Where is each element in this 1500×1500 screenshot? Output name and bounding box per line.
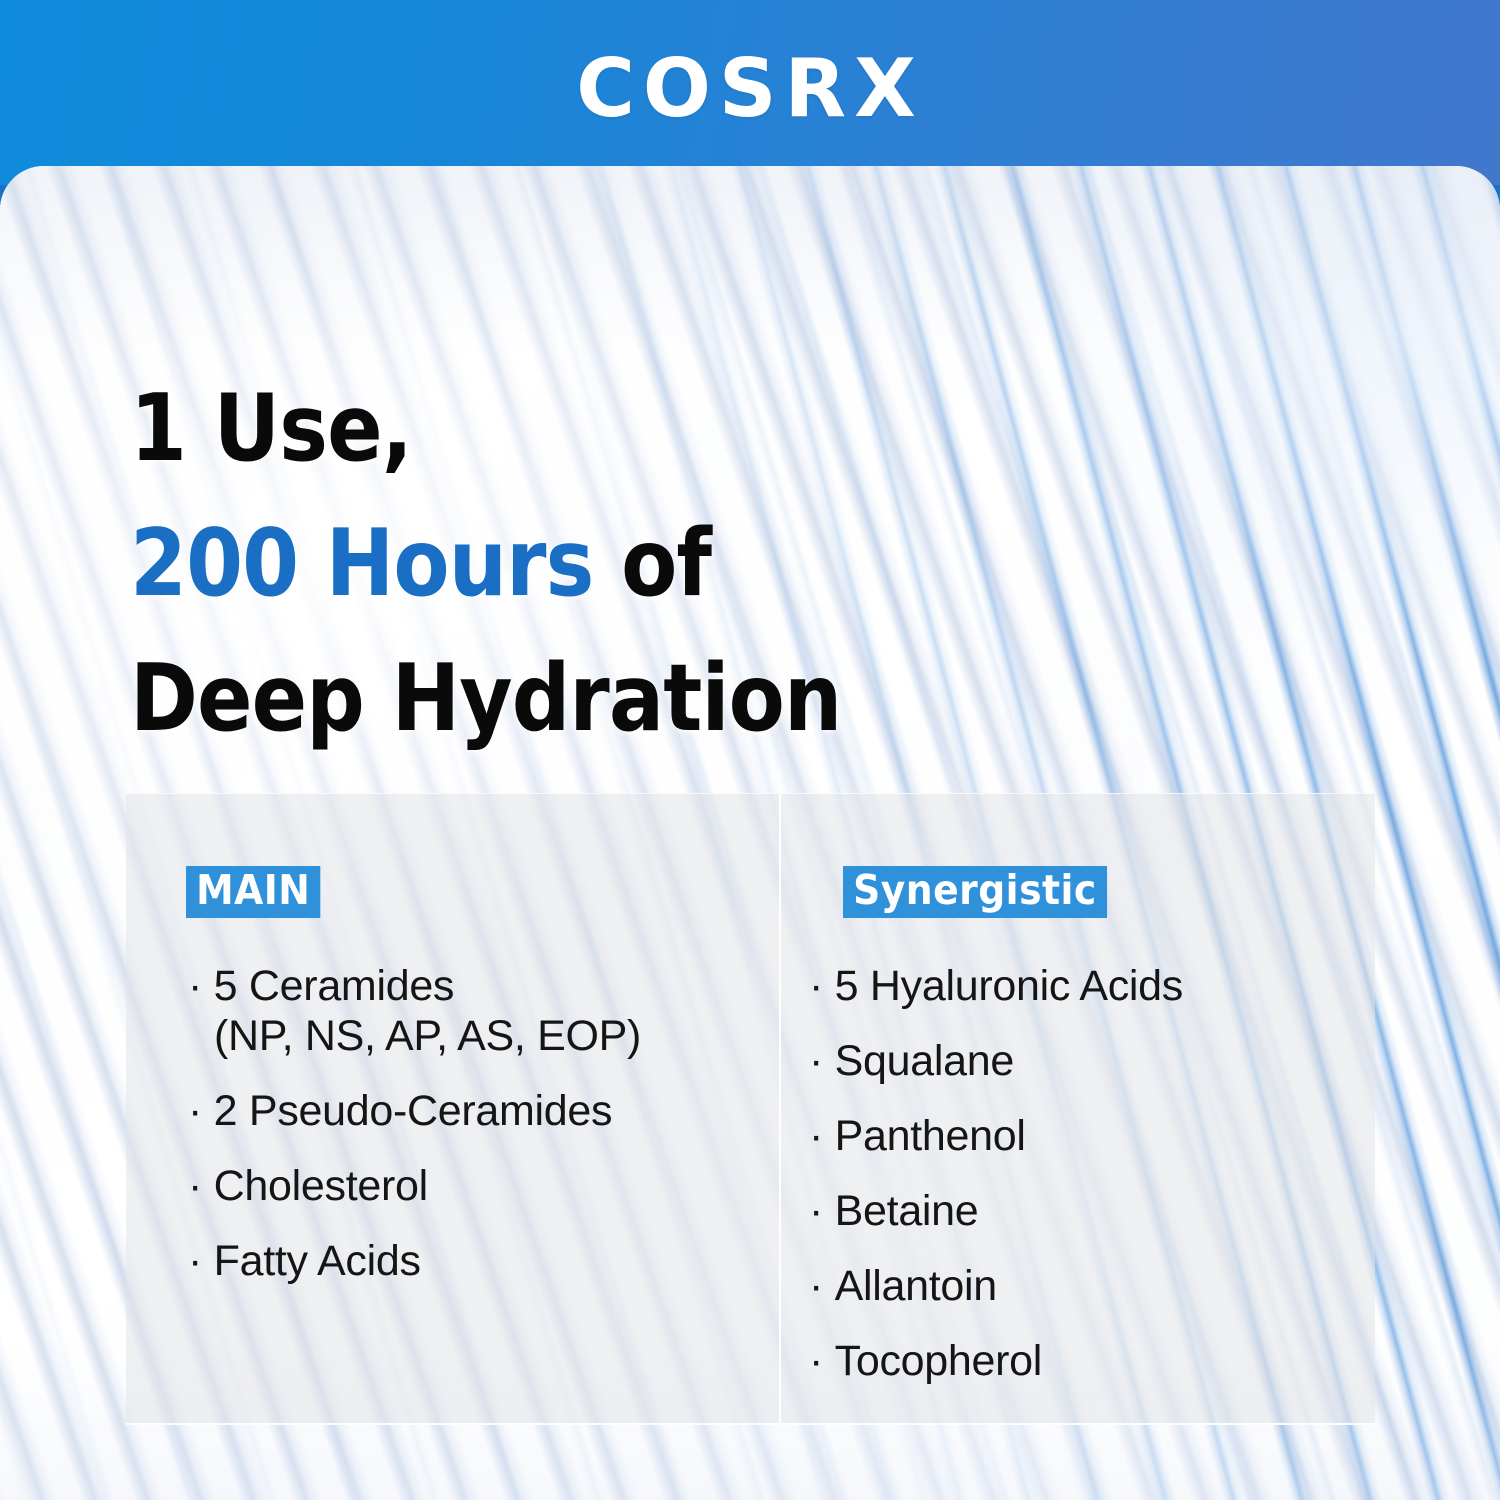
list-item: Squalane	[809, 1036, 1369, 1086]
brand-logo: COSRX	[0, 46, 1500, 132]
ingredient-name: Betaine	[835, 1187, 979, 1235]
ingredient-name: Tocopherol	[835, 1337, 1042, 1385]
list-item: Tocopherol	[809, 1336, 1369, 1386]
badge-main-wrapper: MAIN	[186, 866, 332, 918]
badge-synergistic-wrapper: Synergistic	[843, 866, 1130, 918]
headline-line-2-rest: of	[593, 509, 711, 617]
ingredient-subtext: (NP, NS, AP, AS, EOP)	[188, 1011, 768, 1061]
list-item: Cholesterol	[188, 1161, 768, 1211]
list-item: Allantoin	[809, 1261, 1369, 1311]
badge-synergistic: Synergistic	[843, 866, 1107, 918]
ingredient-name: Panthenol	[835, 1112, 1026, 1160]
brand-header: COSRX	[0, 0, 1500, 185]
headline-accent: 200 Hours	[130, 509, 593, 617]
headline-line-2: 200 Hours of	[130, 496, 922, 631]
ingredient-name: 5 Hyaluronic Acids	[835, 962, 1183, 1010]
headline-line-3: Deep Hydration	[130, 631, 922, 766]
ingredients-column-main: MAIN 5 Ceramides(NP, NS, AP, AS, EOP) 2 …	[126, 794, 779, 1423]
headline: 1 Use, 200 Hours of Deep Hydration	[130, 361, 922, 766]
badge-main: MAIN	[186, 866, 320, 918]
ingredient-list-main: 5 Ceramides(NP, NS, AP, AS, EOP) 2 Pseud…	[188, 961, 768, 1311]
list-item: 2 Pseudo-Ceramides	[188, 1086, 768, 1136]
list-item: Panthenol	[809, 1111, 1369, 1161]
product-banner: COSRX 1 Use, 200 Hours of Deep Hydration…	[0, 0, 1500, 1500]
list-item: Fatty Acids	[188, 1236, 768, 1286]
ingredient-name: Squalane	[835, 1037, 1014, 1085]
ingredients-panel: MAIN 5 Ceramides(NP, NS, AP, AS, EOP) 2 …	[126, 793, 1375, 1425]
ingredient-name: 5 Ceramides	[214, 962, 454, 1010]
ingredient-name: Fatty Acids	[214, 1237, 421, 1285]
headline-line-1: 1 Use,	[130, 361, 922, 496]
ingredient-name: Allantoin	[835, 1262, 997, 1310]
list-item: 5 Ceramides(NP, NS, AP, AS, EOP)	[188, 961, 768, 1061]
ingredient-name: 2 Pseudo-Ceramides	[214, 1087, 613, 1135]
ingredient-name: Cholesterol	[214, 1162, 428, 1210]
list-item: Betaine	[809, 1186, 1369, 1236]
ingredients-column-synergistic: Synergistic 5 Hyaluronic Acids Squalane …	[779, 794, 1375, 1423]
ingredient-list-synergistic: 5 Hyaluronic Acids Squalane Panthenol Be…	[809, 961, 1369, 1411]
list-item: 5 Hyaluronic Acids	[809, 961, 1369, 1011]
